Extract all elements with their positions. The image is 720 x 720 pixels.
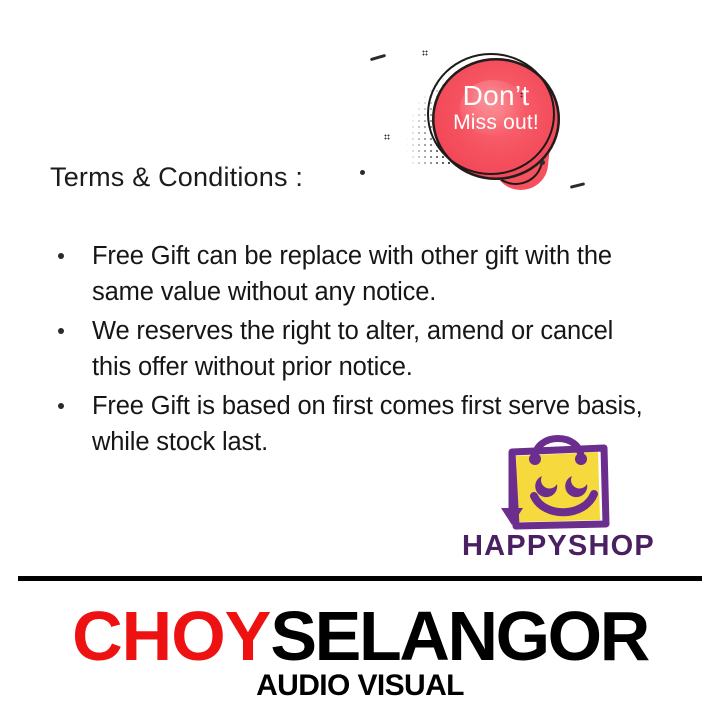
dont-miss-out-badge: Don’t Miss out! <box>398 44 598 214</box>
shopping-bag-smiley-icon <box>486 430 626 530</box>
decorative-dash-icon <box>370 54 386 61</box>
bullet-icon <box>58 253 64 259</box>
badge-line-1: Don’t <box>432 80 560 111</box>
promo-terms-page: Terms & Conditions : Free Gift can be re… <box>0 0 720 720</box>
brand-selangor-text: SELANGOR <box>270 597 648 675</box>
list-item: Free Gift can be replace with other gift… <box>46 238 656 310</box>
decorative-tick-icon <box>422 50 428 56</box>
badge-line-2: Miss out! <box>432 111 560 135</box>
bullet-icon <box>58 328 64 334</box>
list-item-text: We reserves the right to alter, amend or… <box>92 317 613 381</box>
brand-lockup: CHOYSELANGOR <box>0 596 720 676</box>
happyshop-wordmark: HAPPYSHOP <box>462 530 652 563</box>
decorative-tick-icon <box>384 134 390 140</box>
decorative-dash-icon <box>570 182 585 189</box>
decorative-dot-icon <box>540 160 545 165</box>
list-item: We reserves the right to alter, amend or… <box>46 313 656 385</box>
terms-conditions-heading: Terms & Conditions : <box>50 162 303 193</box>
bullet-icon <box>58 403 64 409</box>
brand-choy-text: CHOY <box>72 597 270 675</box>
happyshop-logo: HAPPYSHOP <box>462 430 652 570</box>
badge-text: Don’t Miss out! <box>432 80 560 135</box>
section-divider <box>18 576 702 581</box>
brand-subtitle: AUDIO VISUAL <box>0 669 720 703</box>
list-item-text: Free Gift can be replace with other gift… <box>92 242 612 306</box>
decorative-dot-icon <box>360 170 365 175</box>
